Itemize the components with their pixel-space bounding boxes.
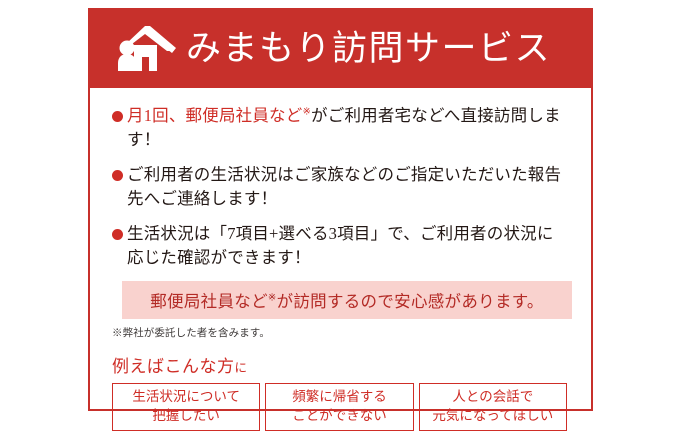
example-box-line1: 頻繁に帰省する: [292, 388, 387, 406]
page-title: みまもり訪問サービス: [186, 31, 551, 66]
bullet-text: 生活状況は「7項目+選べる3項目」で、ご利用者の状況に応じた確認ができます！: [127, 222, 569, 270]
bullet-dot-icon: [112, 229, 123, 240]
example-box-line1: 生活状況について: [132, 388, 240, 406]
example-heading-main: 例えばこんな方: [112, 357, 235, 376]
asterisk-mark: ※: [302, 107, 311, 118]
example-boxes-row: 生活状況について 把握したい 頻繁に帰省する ことができない 人との会話で 元気…: [112, 383, 567, 431]
bullet-emphasis: 月1回、郵便局社員など: [127, 106, 302, 125]
house-with-person-icon: [114, 23, 176, 75]
example-box: 人との会話で 元気になってほしい: [419, 383, 567, 431]
bullet-text: 月1回、郵便局社員など※がご利用者宅などへ直接訪問します！: [127, 104, 569, 152]
example-section-heading: 例えばこんな方に: [112, 352, 569, 377]
highlight-callout-text: 郵便局社員など※が訪問するので安心感があります。: [150, 288, 543, 312]
bullet-dot-icon: [112, 170, 123, 181]
asterisk-mark: ※: [268, 292, 277, 303]
example-box: 生活状況について 把握したい: [112, 383, 260, 431]
bullet-text: ご利用者の生活状況はご家族などのご指定いただいた報告先へご連絡します！: [127, 163, 569, 211]
bullet-rest: ご利用者の生活状況はご家族などのご指定いただいた報告先へご連絡します！: [127, 165, 561, 208]
bullet-item: ご利用者の生活状況はご家族などのご指定いただいた報告先へご連絡します！: [112, 163, 569, 211]
bullet-rest: 生活状況は「7項目+選べる3項目」で、ご利用者の状況に応じた確認ができます！: [127, 224, 554, 267]
example-box-line2: 把握したい: [152, 407, 220, 425]
example-box-line2: ことができない: [292, 407, 387, 425]
bullet-dot-icon: [112, 111, 123, 122]
header-banner: みまもり訪問サービス: [88, 8, 593, 88]
highlight-after: が訪問するので安心感があります。: [277, 292, 544, 311]
example-box-line2: 元気になってほしい: [432, 407, 553, 425]
highlight-before: 郵便局社員など: [150, 292, 268, 311]
poster-canvas: みまもり訪問サービス 月1回、郵便局社員など※がご利用者宅などへ直接訪問します！…: [0, 0, 680, 421]
poster-body: 月1回、郵便局社員など※がご利用者宅などへ直接訪問します！ ご利用者の生活状況は…: [90, 88, 591, 409]
example-heading-tail: に: [235, 361, 248, 375]
footnote-text: ※弊社が委託した者を含みます。: [112, 325, 569, 340]
bullet-item: 生活状況は「7項目+選べる3項目」で、ご利用者の状況に応じた確認ができます！: [112, 222, 569, 270]
bullet-item: 月1回、郵便局社員など※がご利用者宅などへ直接訪問します！: [112, 104, 569, 152]
highlight-callout: 郵便局社員など※が訪問するので安心感があります。: [122, 281, 572, 319]
example-box-line1: 人との会話で: [452, 388, 533, 406]
example-box: 頻繁に帰省する ことができない: [265, 383, 413, 431]
